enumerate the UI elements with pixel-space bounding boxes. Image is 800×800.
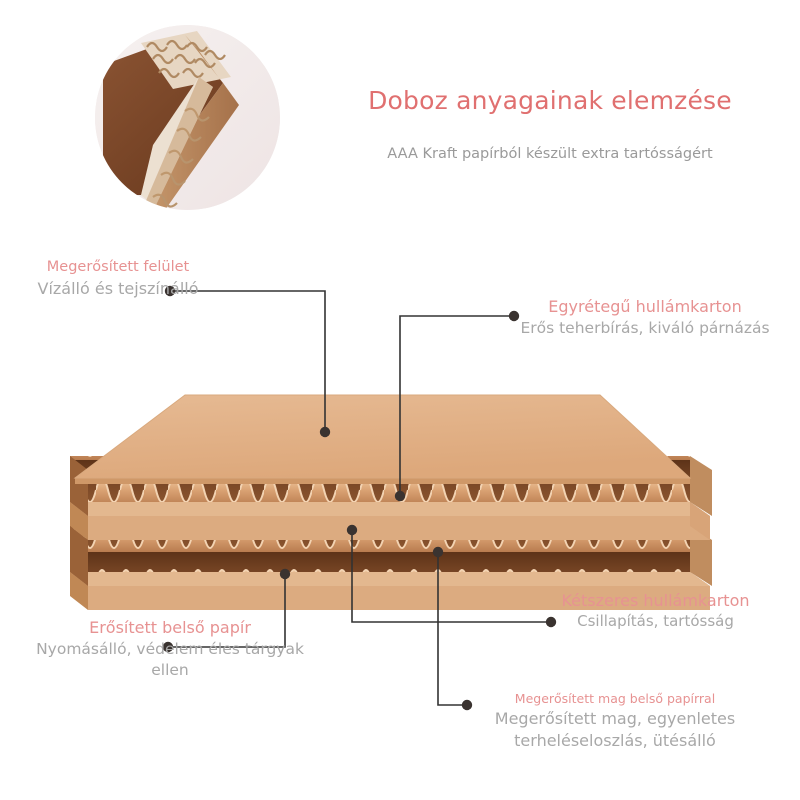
annotation-reinforced-surface: Megerősített felület Vízálló és tejszíná… xyxy=(28,258,208,299)
annotation-surface-title: Megerősített felület xyxy=(28,258,208,277)
annotation-core-title: Megerősített mag belső papírral xyxy=(450,691,780,707)
annotation-single-body: Erős teherbírás, kiváló párnázás xyxy=(520,318,770,338)
page-root: Doboz anyagainak elemzése AAA Kraft papí… xyxy=(0,0,800,800)
annotation-inner-body: Nyomásálló, védelem éles tárgyak ellen xyxy=(25,639,315,680)
middle-liner-sheet xyxy=(70,502,710,540)
leader-dot-single-label xyxy=(509,311,519,321)
top-face-sheet xyxy=(75,395,690,484)
annotation-reinforced-core: Megerősített mag belső papírral Megerősí… xyxy=(450,691,780,751)
annotation-surface-body: Vízálló és tejszínálló xyxy=(28,278,208,299)
annotation-double-body: Csillapítás, tartósság xyxy=(548,612,763,632)
leader-dot-double-point xyxy=(347,525,357,535)
annotation-double-title: Kétszeres hullámkarton xyxy=(548,591,763,611)
leader-dot-single-point xyxy=(395,491,405,501)
annotation-double-wall: Kétszeres hullámkarton Csillapítás, tart… xyxy=(548,591,763,632)
annotation-single-title: Egyrétegű hullámkarton xyxy=(520,297,770,317)
leader-dot-core-point xyxy=(433,547,443,557)
leader-dot-inner-point xyxy=(280,569,290,579)
annotation-inner-paper: Erősített belső papír Nyomásálló, védele… xyxy=(25,618,315,680)
leader-dot-surface-point xyxy=(320,427,330,437)
annotation-single-wall: Egyrétegű hullámkarton Erős teherbírás, … xyxy=(520,297,770,339)
annotation-core-body: Megerősített mag, egyenletes terheléselo… xyxy=(450,708,780,751)
annotation-inner-title: Erősített belső papír xyxy=(25,618,315,638)
